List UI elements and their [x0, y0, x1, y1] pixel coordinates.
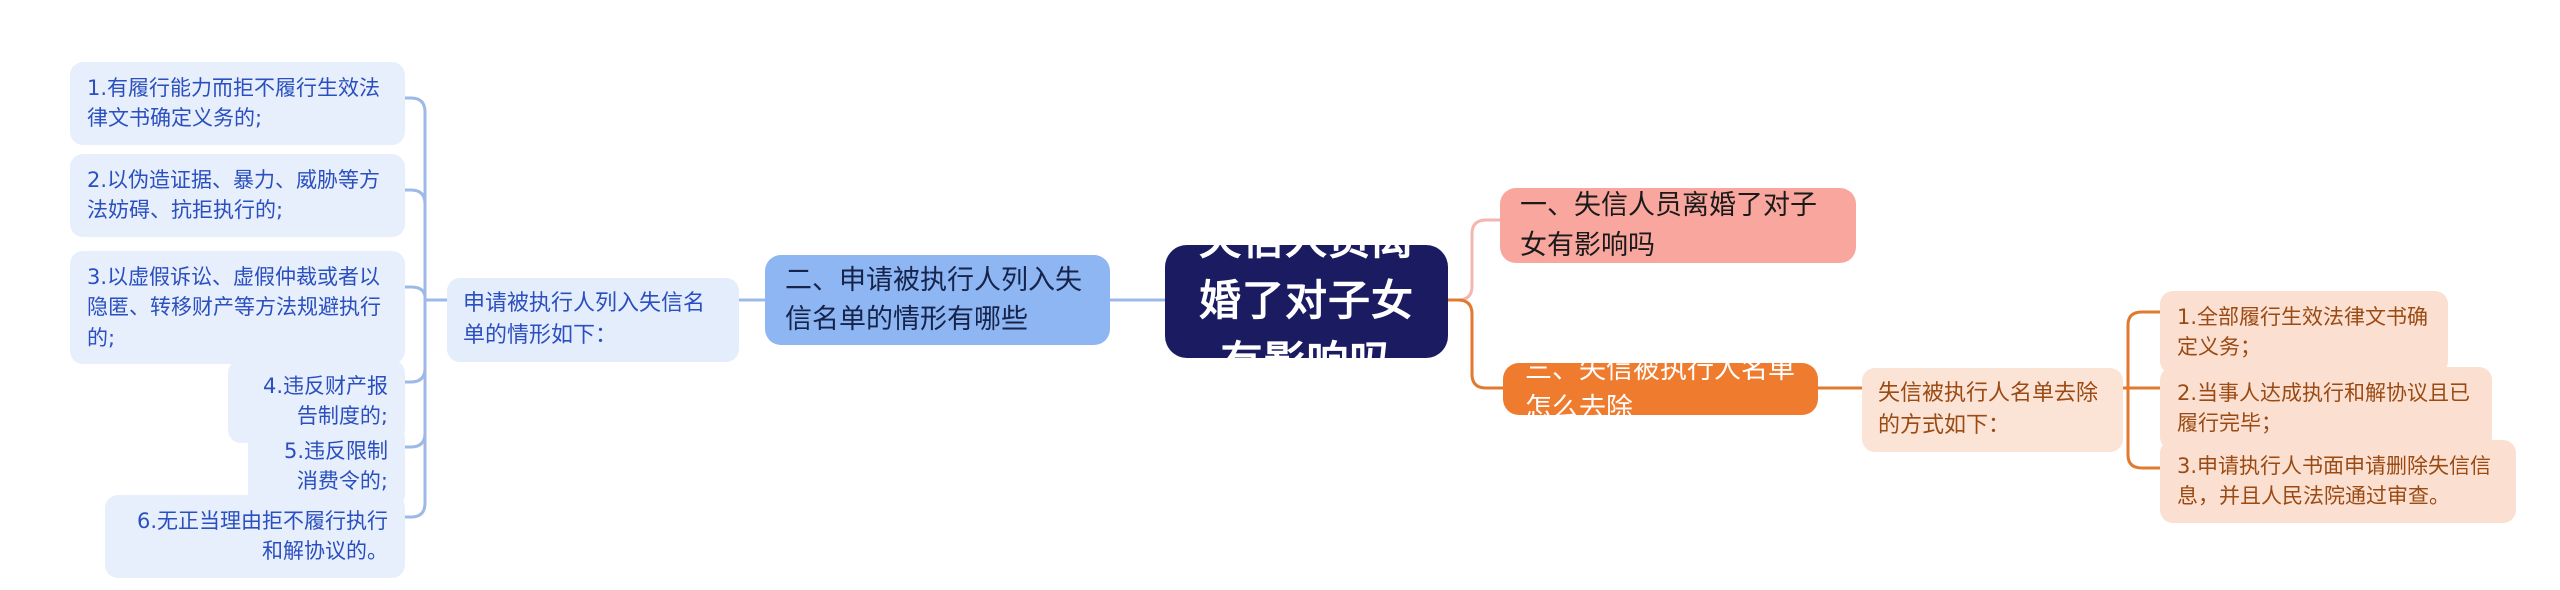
left-leaf-item-6-label: 6.无正当理由拒不履行执行和解协议的。: [122, 506, 388, 567]
link-left-item-5: [405, 312, 425, 447]
right-leaf-item-3[interactable]: 3.申请执行人书面申请删除失信信息，并且人民法院通过审查。: [2160, 440, 2516, 523]
link-root-to-pink: [1448, 220, 1500, 300]
right-bottom-level1-node[interactable]: 三、失信被执行人名单怎么去除: [1503, 363, 1818, 415]
link-right-item-1: [2128, 312, 2160, 325]
left-leaf-item-1[interactable]: 1.有履行能力而拒不履行生效法律文书确定义务的;: [70, 62, 405, 145]
left-level1-label: 二、申请被执行人列入失信名单的情形有哪些: [785, 261, 1090, 339]
right-leaf-item-3-label: 3.申请执行人书面申请删除失信信息，并且人民法院通过审查。: [2177, 451, 2499, 512]
left-level1-node[interactable]: 二、申请被执行人列入失信名单的情形有哪些: [765, 255, 1110, 345]
left-leaf-item-2-label: 2.以伪造证据、暴力、威胁等方法妨碍、抗拒执行的;: [87, 165, 388, 226]
left-level2-node[interactable]: 申请被执行人列入失信名单的情形如下：: [447, 278, 739, 362]
right-level2-label: 失信被执行人名单去除的方式如下：: [1878, 378, 2107, 442]
root-label: 失信人员离婚了对子女有影响吗: [1191, 210, 1422, 393]
left-leaf-item-3[interactable]: 3.以虚假诉讼、虚假仲裁或者以隐匿、转移财产等方法规避执行的;: [70, 251, 405, 364]
link-left-item-2: [405, 190, 425, 290]
right-leaf-item-1[interactable]: 1.全部履行生效法律文书确定义务；: [2160, 291, 2448, 374]
left-leaf-item-1-label: 1.有履行能力而拒不履行生效法律文书确定义务的;: [87, 73, 388, 134]
right-top-level1-node[interactable]: 一、失信人员离婚了对子女有影响吗: [1500, 188, 1856, 263]
link-right-item-3: [2128, 455, 2160, 468]
link-left-item-3: [405, 287, 425, 300]
root-node[interactable]: 失信人员离婚了对子女有影响吗: [1165, 245, 1448, 358]
mindmap-canvas: 1.有履行能力而拒不履行生效法律文书确定义务的; 2.以伪造证据、暴力、威胁等方…: [0, 0, 2560, 590]
left-leaf-item-6[interactable]: 6.无正当理由拒不履行执行和解协议的。: [105, 495, 405, 578]
left-leaf-item-5-label: 5.违反限制消费令的;: [265, 436, 388, 497]
right-bottom-level1-label: 三、失信被执行人名单怎么去除: [1525, 350, 1796, 428]
right-leaf-item-1-label: 1.全部履行生效法律文书确定义务；: [2177, 302, 2431, 363]
left-leaf-item-3-label: 3.以虚假诉讼、虚假仲裁或者以隐匿、转移财产等方法规避执行的;: [87, 262, 388, 353]
link-left-item-6: [405, 312, 425, 517]
link-left-item-4: [405, 312, 425, 382]
right-leaf-item-2-label: 2.当事人达成执行和解协议且已履行完毕；: [2177, 378, 2475, 439]
left-leaf-item-4-label: 4.违反财产报告制度的;: [245, 371, 388, 432]
link-root-to-orange: [1448, 300, 1503, 388]
right-leaf-item-2[interactable]: 2.当事人达成执行和解协议且已履行完毕；: [2160, 367, 2492, 450]
left-leaf-item-2[interactable]: 2.以伪造证据、暴力、威胁等方法妨碍、抗拒执行的;: [70, 154, 405, 237]
right-top-level1-label: 一、失信人员离婚了对子女有影响吗: [1520, 186, 1836, 264]
left-level2-label: 申请被执行人列入失信名单的情形如下：: [463, 288, 723, 352]
link-left-item-1: [405, 98, 425, 290]
right-level2-node[interactable]: 失信被执行人名单去除的方式如下：: [1862, 368, 2123, 452]
